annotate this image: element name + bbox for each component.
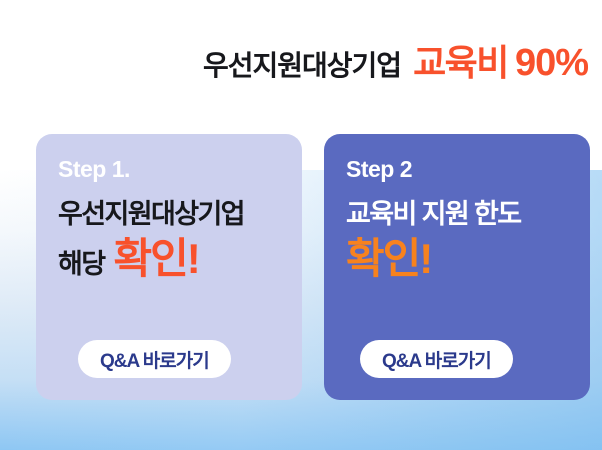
card-2-line2: 확인!: [346, 238, 568, 280]
headline-lead: 우선지원대상기업: [203, 52, 401, 80]
step-label-2: Step 2: [346, 158, 568, 181]
headline-accent: 교육비: [413, 45, 508, 81]
card-step-2[interactable]: Step 2 교육비 지원 한도 확인! Q&A 바로가기: [324, 134, 590, 400]
card-1-line2-accent: 확인!: [113, 238, 198, 280]
step-label-1: Step 1.: [58, 158, 280, 181]
qna-link-button-1[interactable]: Q&A 바로가기: [78, 340, 231, 378]
card-2-line2-accent: 확인!: [346, 238, 431, 280]
headline-accent-number: 90%: [515, 44, 588, 82]
qna-link-button-2[interactable]: Q&A 바로가기: [360, 340, 513, 378]
card-1-line2-prefix: 해당: [58, 251, 104, 278]
card-1-line2: 해당 확인!: [58, 238, 280, 280]
promo-banner: 우선지원대상기업 교육비 90% Step 1. 우선지원대상기업 해당 확인!…: [0, 0, 602, 450]
card-step-1[interactable]: Step 1. 우선지원대상기업 해당 확인! Q&A 바로가기: [36, 134, 302, 400]
card-1-line1: 우선지원대상기업: [58, 201, 280, 228]
card-2-line1: 교육비 지원 한도: [346, 201, 568, 228]
headline: 우선지원대상기업 교육비 90%: [203, 44, 588, 82]
